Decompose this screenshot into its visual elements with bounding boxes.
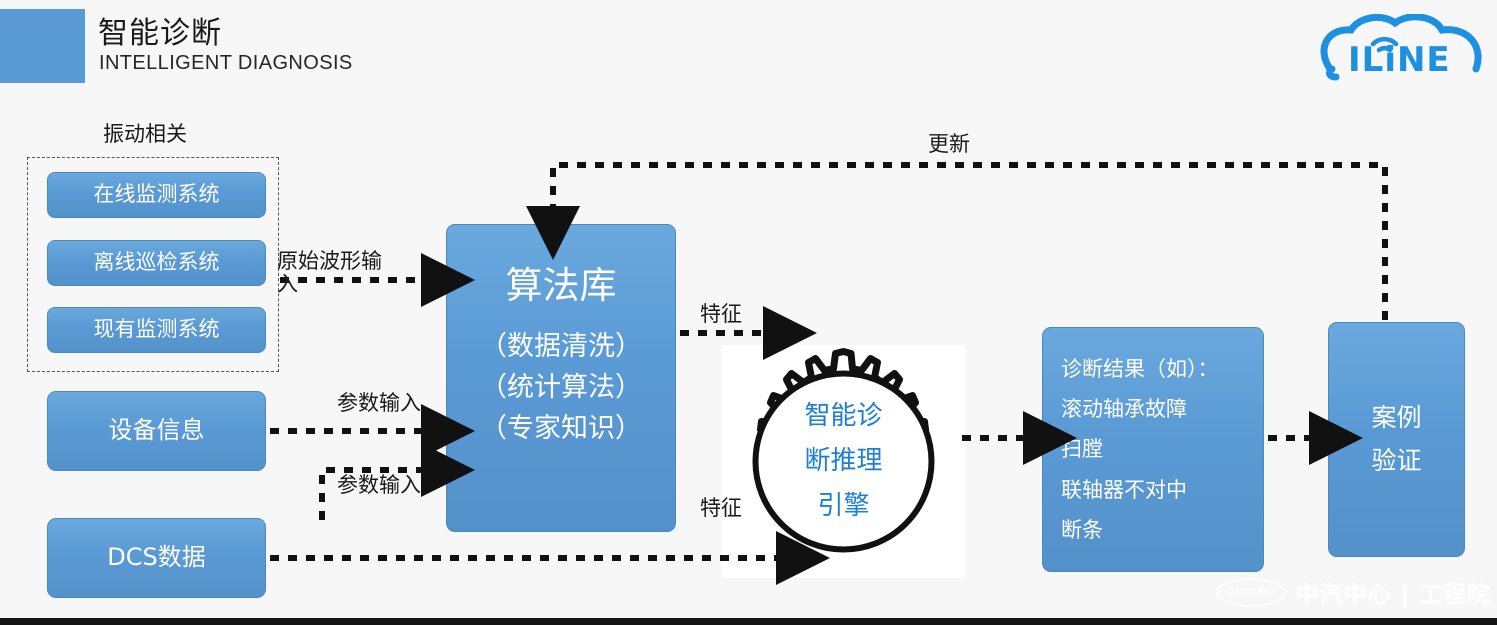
connector-label-update: 更新 [928, 133, 970, 156]
source-box-dcs-data[interactable]: DCS数据 [47, 518, 266, 598]
diagnosis-line-bearing-fault: 滚动轴承故障 [1061, 389, 1187, 429]
algorithm-line-expert-knowledge: （专家知识） [480, 408, 642, 449]
watermark-text: 中汽中心 | 工程院 [1296, 575, 1491, 609]
page-title-cn: 智能诊断 [98, 8, 222, 52]
watermark-badge: CATARC [1216, 578, 1286, 607]
source-box-offline-inspection[interactable]: 离线巡检系统 [47, 240, 266, 286]
connector-label-raw-waveform: 原始波形输 入 [277, 250, 417, 296]
diagnosis-line-title: 诊断结果（如）： [1061, 349, 1219, 389]
gear-icon [722, 345, 965, 578]
watermark: CATARC 中汽中心 | 工程院 [1216, 575, 1491, 609]
group-label-vibration: 振动相关 [103, 118, 187, 148]
source-box-device-info[interactable]: 设备信息 [47, 391, 266, 471]
cloud-icon: ILiNE [1318, 14, 1486, 84]
raw-waveform-line-1: 原始波形输 [277, 250, 417, 273]
source-box-existing-monitoring[interactable]: 现有监测系统 [47, 307, 266, 353]
case-verification-box[interactable]: 案例 验证 [1328, 322, 1465, 557]
algorithm-title: 算法库 [506, 267, 617, 304]
connector-label-feature-2: 特征 [700, 497, 742, 520]
diagnosis-result-box[interactable]: 诊断结果（如）： 滚动轴承故障 扫膛 联轴器不对中 断条 [1042, 327, 1264, 572]
case-line-1: 案例 [1371, 397, 1421, 440]
raw-waveform-line-2: 入 [277, 273, 417, 296]
source-box-online-monitoring[interactable]: 在线监测系统 [47, 172, 266, 218]
page-title-en: INTELLIGENT DIAGNOSIS [99, 52, 353, 75]
algorithm-line-data-cleaning: （数据清洗） [480, 326, 642, 367]
diagnosis-line-rotor-rub: 扫膛 [1061, 429, 1103, 469]
diagnosis-line-misalignment: 联轴器不对中 [1061, 470, 1187, 510]
algorithm-library-box[interactable]: 算法库 （数据清洗） （统计算法） （专家知识） [446, 224, 676, 532]
connector-label-feature-1: 特征 [700, 303, 742, 326]
iline-logo: ILiNE [1318, 14, 1486, 84]
connector-label-param-input-2: 参数输入 [337, 474, 421, 497]
logo-wordmark: ILiNE [1348, 40, 1451, 80]
diagnosis-line-broken-bar: 断条 [1061, 510, 1103, 550]
connector-update-feedback [553, 165, 1385, 320]
bottom-bar [0, 618, 1497, 625]
case-line-2: 验证 [1371, 440, 1421, 483]
algorithm-line-statistics: （统计算法） [480, 367, 642, 408]
header-accent-block [0, 9, 85, 83]
connector-label-param-input-1: 参数输入 [337, 392, 421, 415]
slide-root: 智能诊断 INTELLIGENT DIAGNOSIS ILiNE 振动相关 在线… [0, 0, 1497, 625]
inference-engine-node[interactable]: 智能诊 断推理 引擎 [722, 345, 965, 578]
